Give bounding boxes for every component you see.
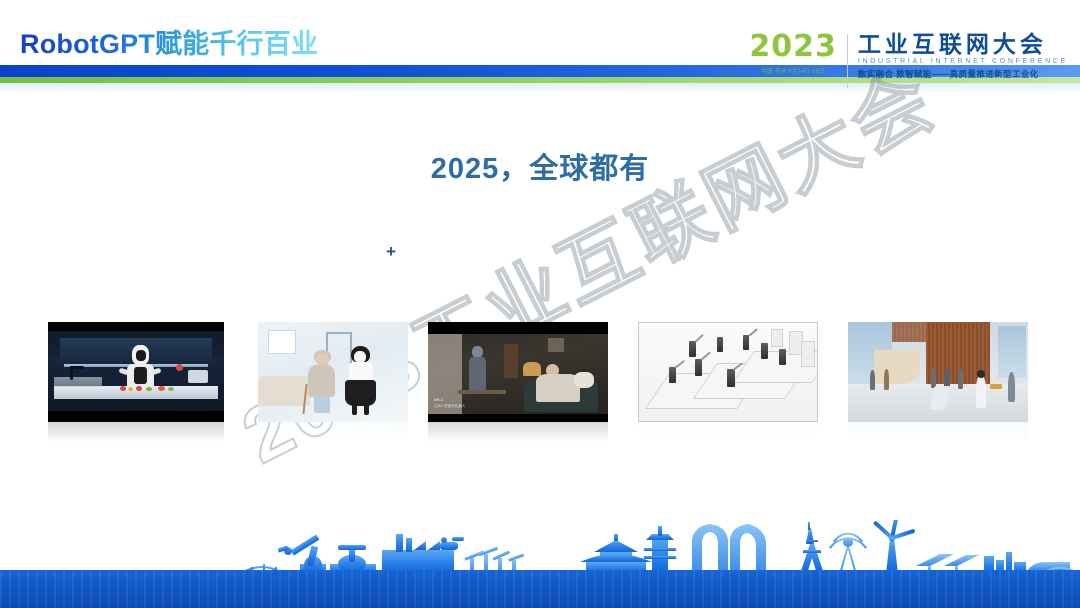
logo-english-title: INDUSTRIAL INTERNET CONFERENCE [858,58,1068,65]
slide-main-heading: 2025，全球都有 [0,145,1080,187]
machine-5 [717,337,723,352]
visitor-3 [931,368,936,388]
photo-kitchen-robot-cell[interactable] [48,322,224,442]
photo-companion-reflection [428,422,608,442]
table-lamp-shade [523,362,541,376]
visitor-1 [870,370,875,390]
machine-3 [727,369,735,387]
photo-companion-robot[interactable]: XR-1 达闼人形服务机器人 [428,322,608,422]
robot-chest-panel [134,367,147,384]
skyline-factory [382,534,464,574]
food-item-2 [128,387,133,391]
machine-7 [761,343,768,359]
machine-1 [669,367,676,383]
bottom-decorative-band [0,520,1080,608]
elderly-legs [314,396,330,413]
photo-elderly-care-cell[interactable] [258,322,408,442]
logo-year-block: 2023 中国·苏州 8月14日-16日 [749,32,847,75]
logo-slogan: 数实融合 数智赋能——高质量推进新型工业化 [858,68,1068,80]
logo-chinese-title: 工业互联网大会 [858,32,1068,56]
photo-elderly-reflection [258,422,408,442]
kitchen-sink-area [54,377,102,387]
equipment-box-2 [801,341,815,367]
wall-picture-frame [268,330,296,354]
machine-8 [779,349,786,365]
skyline-gate-of-the-orient [692,524,766,574]
maid-robot-skirt [345,380,376,406]
letterbox-top [428,322,608,334]
food-item-1 [120,386,126,391]
skyline-pagoda-pavilion [580,534,652,574]
photo-companion-robot-cell[interactable]: XR-1 达闼人形服务机器人 [428,322,608,442]
conference-logo: 2023 中国·苏州 8月14日-16日 工业互联网大会 INDUSTRIAL … [749,32,1068,90]
band-water-texture [0,570,1080,608]
skyline-eiffel-tower [800,522,824,574]
visitor-2 [884,369,889,390]
photo-strip: XR-1 达闼人形服务机器人 [0,322,1080,452]
grand-staircase [874,350,920,384]
background-figure [504,344,518,378]
sofa [258,376,310,406]
machine-6 [743,335,749,350]
equipment-box-3 [771,329,783,347]
side-table [458,390,506,394]
video-caption: XR-1 达闼人形服务机器人 [434,398,465,409]
slide-title: RobotGPT赋能千行百业 [20,22,318,61]
letterbox-top [48,322,224,331]
photo-elderly-care-robot[interactable] [258,322,408,422]
logo-date-location: 中国·苏州 8月14日-16日 [761,67,825,75]
door-frame-top [326,332,350,334]
machine-4 [689,341,696,357]
pillow [574,372,594,388]
robot-tray [990,384,1002,389]
photo-smart-factory[interactable] [638,322,818,422]
ceiling-beam [892,322,926,342]
skyline-wind-turbine [873,520,916,574]
presentation-slide: RobotGPT赋能千行百业 2023 中国·苏州 8月14日-16日 工业互联… [0,0,1080,608]
photo-smart-factory-cell[interactable] [638,322,818,442]
robot-face-screen [136,350,146,361]
kitchen-faucet-spout [70,366,84,369]
service-robot-head [977,370,985,378]
maid-robot-right-leg [364,402,369,415]
maid-robot-left-leg [352,402,357,415]
food-item-5 [158,386,165,391]
food-item-6 [168,387,174,391]
video-caption-text: 达闼人形服务机器人 [434,404,465,408]
skyline-pagoda-tower [644,526,676,574]
skyline-radar-tower [830,534,866,574]
visitor-6 [1008,372,1015,402]
logo-title-block: 工业互联网大会 INDUSTRIAL INTERNET CONFERENCE 数… [848,32,1068,80]
photo-kitchen-reflection [48,422,224,442]
robot-body [469,357,486,391]
photo-lobby-robot-cell[interactable] [848,322,1028,442]
diagonal-watermark: 2023工业互联网大会 [185,35,865,566]
service-robot-body [976,376,986,408]
wall-picture [548,338,564,352]
photo-lobby-service-robot[interactable] [848,322,1028,422]
photo-lobby-reflection [848,422,1028,442]
logo-year: 2023 [749,32,837,62]
photo-factory-reflection [638,422,818,442]
photo-kitchen-robot[interactable] [48,322,224,422]
food-item-3 [136,386,142,391]
letterbox-bottom [428,414,608,422]
food-item-4 [146,387,152,391]
slide-header: RobotGPT赋能千行百业 2023 中国·苏州 8月14日-16日 工业互联… [0,0,1080,95]
machine-2 [695,359,702,376]
visitor-5 [958,369,963,389]
plus-bullet-mark: + [386,243,396,260]
skyline-silhouette [0,520,1080,574]
kitchen-flower [176,364,183,371]
kitchen-microwave [188,370,208,383]
letterbox-bottom [48,411,224,422]
skyline-robotic-arm [278,535,326,574]
elderly-coat [308,365,335,397]
glass-lift-shaft [998,326,1026,378]
